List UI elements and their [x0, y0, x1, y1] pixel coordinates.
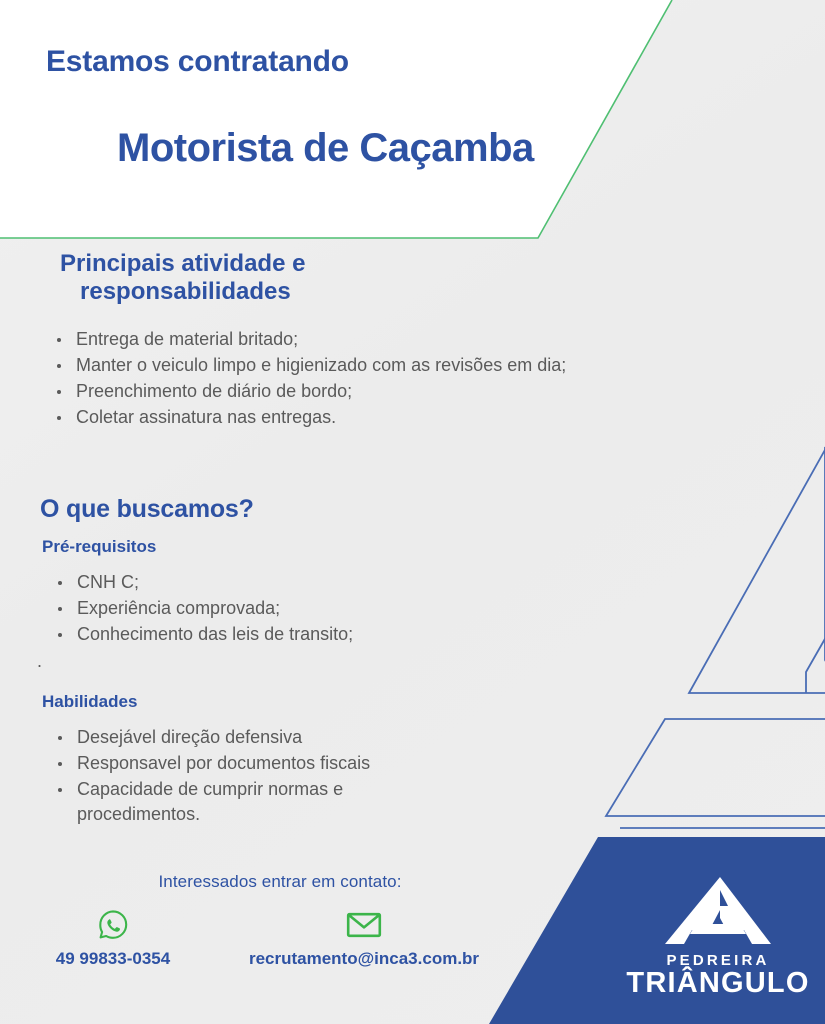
- list-item: Experiência comprovada;: [54, 596, 680, 621]
- company-logo: PEDREIRA TRIÂNGULO: [618, 872, 818, 1000]
- stray-period: .: [37, 655, 680, 667]
- list-item: Desejável direção defensiva: [54, 725, 680, 750]
- requirements-heading: O que buscamos?: [40, 495, 680, 524]
- activities-section: Principais atividade e responsabilidades…: [0, 250, 720, 431]
- prerequisites-list: CNH C; Experiência comprovada; Conhecime…: [54, 570, 680, 647]
- contact-phone[interactable]: 49 99833-0354: [13, 908, 213, 969]
- triangle-a-mark: [662, 872, 774, 948]
- contact-label: Interessados entrar em contato:: [0, 872, 560, 892]
- kicker-text: Estamos contratando: [46, 45, 349, 79]
- activities-list: Entrega de material britado; Manter o ve…: [53, 327, 720, 430]
- logo-word-triangulo: TRIÂNGULO: [618, 967, 818, 1000]
- email-address: recrutamento@inca3.com.br: [249, 949, 479, 969]
- outline-shape-upper-notch: [806, 637, 825, 693]
- contact-email[interactable]: recrutamento@inca3.com.br: [219, 908, 509, 969]
- activities-title-line1: Principais atividade e: [60, 250, 305, 277]
- outline-shape-upper-real: [689, 448, 825, 693]
- list-item: Responsavel por documentos fiscais: [54, 751, 680, 776]
- list-item: Capacidade de cumprir normas e procedime…: [54, 777, 387, 827]
- prerequisites-label: Pré-requisitos: [42, 537, 680, 557]
- activities-title-line2: responsabilidades: [60, 278, 390, 306]
- list-item: CNH C;: [54, 570, 680, 595]
- requirements-section: O que buscamos? Pré-requisitos CNH C; Ex…: [40, 495, 680, 667]
- list-item: Coletar assinatura nas entregas.: [53, 405, 720, 430]
- skills-label: Habilidades: [42, 692, 680, 712]
- list-item: Conhecimento das leis de transito;: [54, 622, 680, 647]
- list-item: Preenchimento de diário de bordo;: [53, 379, 720, 404]
- poster-header: Estamos contratando Motorista de Caçamba: [0, 0, 825, 240]
- whatsapp-icon: [96, 908, 130, 942]
- contact-row: 49 99833-0354 recrutamento@inca3.com.br: [0, 908, 560, 969]
- activities-title: Principais atividade e responsabilidades: [0, 250, 390, 307]
- skills-section: Habilidades Desejável direção defensiva …: [40, 692, 680, 828]
- skills-list: Desejável direção defensiva Responsavel …: [54, 725, 680, 827]
- list-item: Manter o veiculo limpo e higienizado com…: [53, 353, 720, 378]
- job-poster: Estamos contratando Motorista de Caçamba…: [0, 0, 825, 1024]
- contact-section: Interessados entrar em contato: 49 99833…: [0, 872, 560, 969]
- phone-number: 49 99833-0354: [56, 949, 170, 969]
- list-item: Entrega de material britado;: [53, 327, 720, 352]
- envelope-icon: [346, 908, 382, 942]
- job-title: Motorista de Caçamba: [117, 126, 534, 171]
